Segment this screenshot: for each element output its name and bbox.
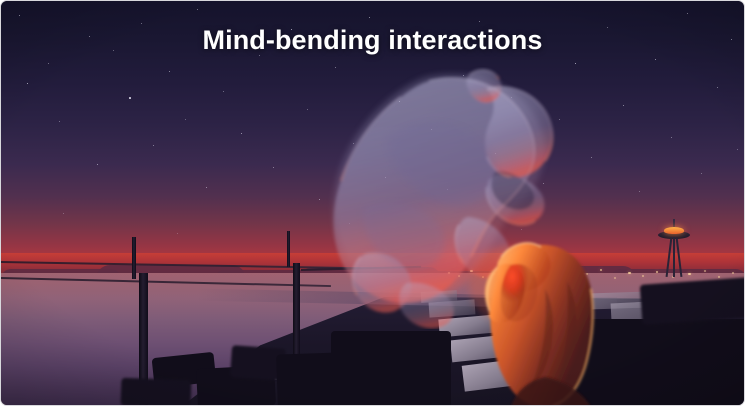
- space-needle-leg: [666, 237, 673, 277]
- space-needle-leg: [673, 237, 675, 277]
- city-light: [718, 276, 720, 278]
- foreground-silhouette: [121, 378, 192, 405]
- star: [59, 121, 60, 122]
- star: [737, 149, 738, 150]
- star: [687, 13, 688, 14]
- star: [307, 109, 308, 110]
- star: [48, 63, 49, 64]
- star: [241, 133, 242, 134]
- space-needle-icon: [656, 223, 692, 285]
- star: [655, 59, 656, 60]
- star: [27, 83, 28, 84]
- pinch-hand[interactable]: [441, 227, 631, 405]
- star: [369, 17, 370, 18]
- star: [177, 233, 178, 234]
- foreground-silhouette: [331, 331, 451, 405]
- star: [575, 63, 576, 64]
- star: [97, 164, 98, 165]
- space-needle-leg: [676, 237, 683, 277]
- star: [479, 21, 480, 22]
- star: [206, 187, 207, 188]
- star: [129, 97, 131, 99]
- star: [591, 157, 592, 158]
- star: [63, 213, 64, 214]
- city-light: [704, 270, 706, 272]
- city-light: [732, 272, 734, 274]
- star: [623, 105, 624, 106]
- ar-scene: Mind-bending interactions: [1, 1, 744, 405]
- star: [671, 137, 672, 138]
- star: [717, 87, 718, 88]
- screenshot-frame: Mind-bending interactions: [0, 0, 745, 406]
- star: [141, 23, 142, 24]
- railing-post: [132, 237, 136, 279]
- city-light: [642, 275, 644, 277]
- star: [185, 119, 186, 120]
- star: [701, 173, 702, 174]
- star: [19, 15, 20, 16]
- page-title: Mind-bending interactions: [1, 25, 744, 56]
- foreground-silhouette: [640, 277, 744, 325]
- star: [273, 167, 274, 168]
- star: [197, 9, 198, 10]
- space-needle-light: [664, 227, 684, 234]
- star: [639, 191, 640, 192]
- star: [169, 71, 170, 72]
- railing-post: [287, 231, 290, 267]
- star: [153, 145, 154, 146]
- star: [223, 91, 224, 92]
